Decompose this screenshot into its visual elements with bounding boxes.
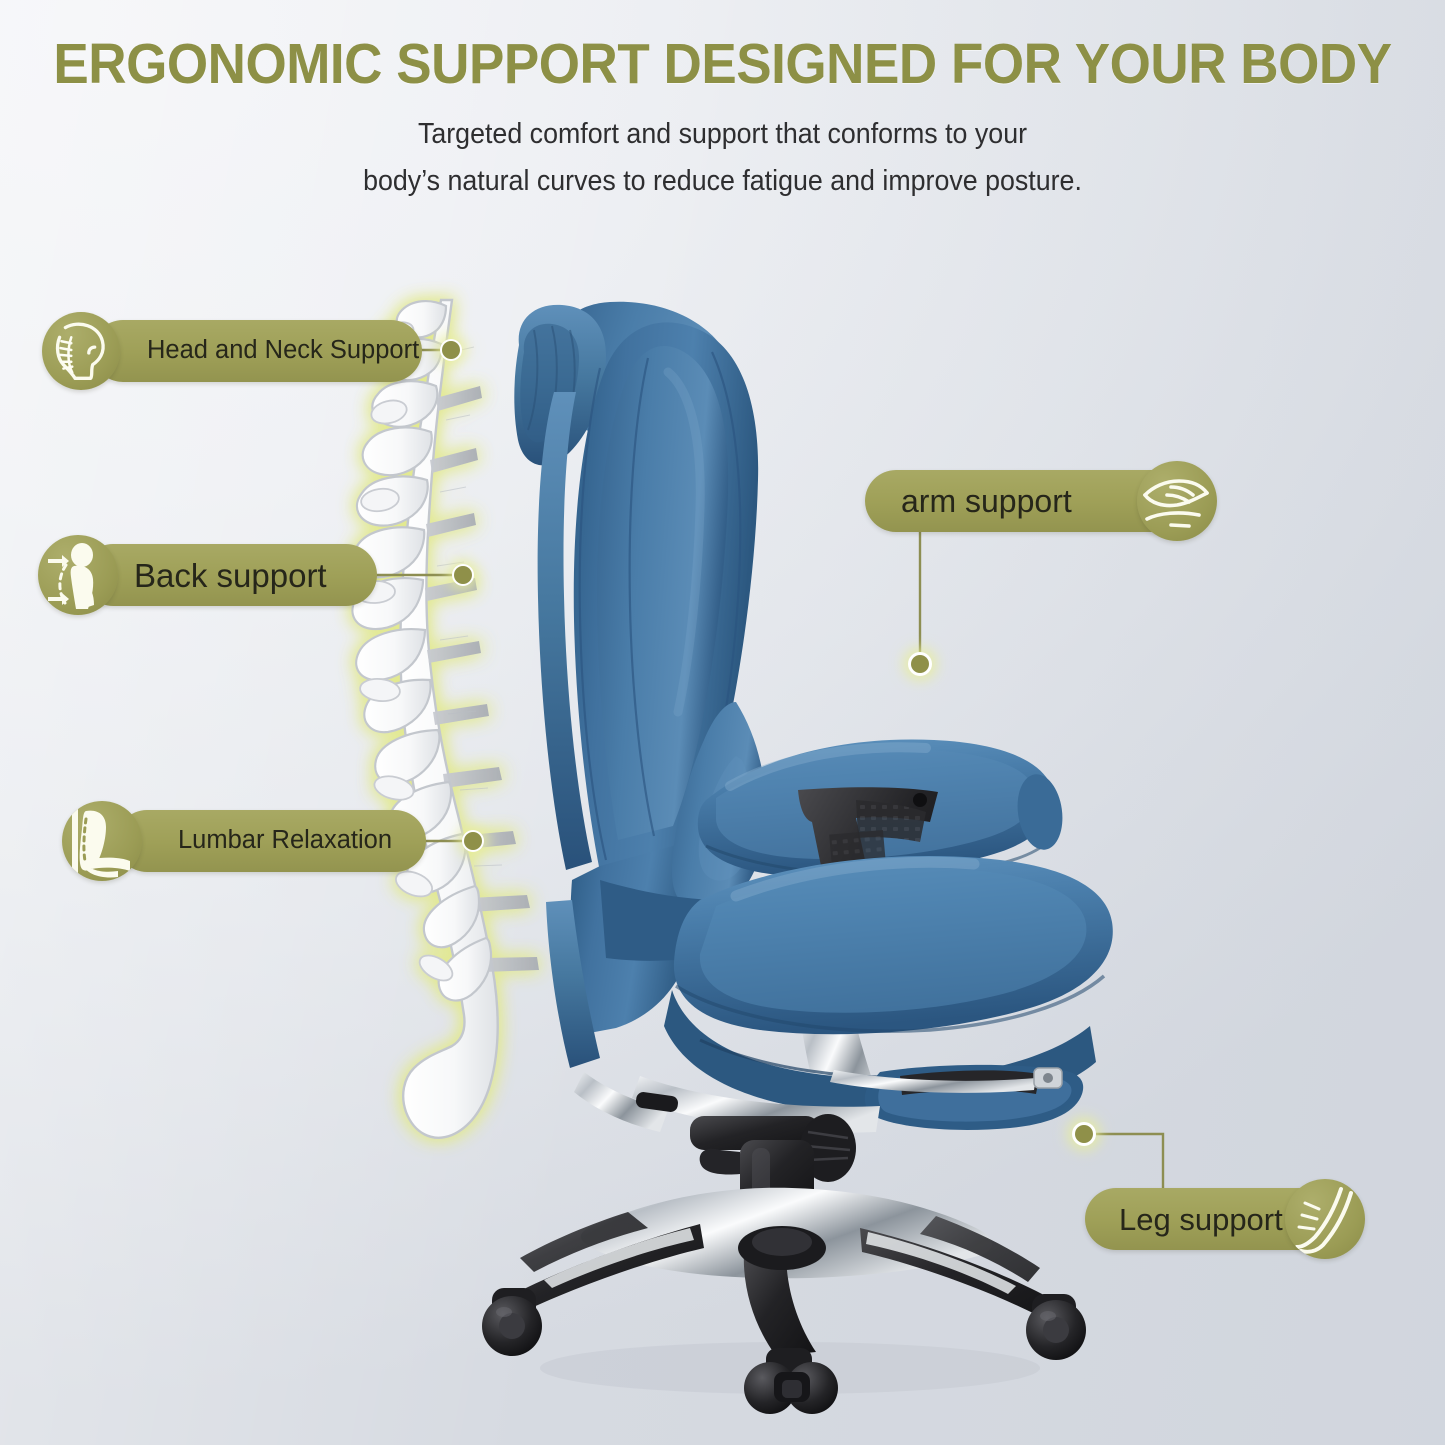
caster-left [482,1288,542,1356]
callout-label: Leg support [1119,1204,1283,1235]
callout-label: arm support [901,485,1072,517]
callout-label: Lumbar Relaxation [178,828,392,854]
header: ERGONOMIC SUPPORT DESIGNED FOR YOUR BODY… [0,34,1445,203]
infographic-canvas: ERGONOMIC SUPPORT DESIGNED FOR YOUR BODY… [0,0,1445,1445]
callout-label: Head and Neck Support [147,338,419,364]
leg-foot-icon [1285,1179,1365,1259]
callout-pill[interactable]: Back support [82,544,377,606]
back-posture-icon [38,535,118,615]
subtitle-line-1: Targeted comfort and support that confor… [43,112,1401,156]
subtitle-line-2: body’s natural curves to reduce fatigue … [43,159,1401,203]
lumbar-seat-icon [62,801,142,881]
caster-right [1026,1294,1086,1360]
head-neck-profile-icon [42,312,120,390]
callout-pill[interactable]: Head and Neck Support [92,320,422,382]
callout-pill[interactable]: Lumbar Relaxation [116,810,426,872]
page-title: ERGONOMIC SUPPORT DESIGNED FOR YOUR BODY [51,34,1395,94]
chair-base [506,1188,1058,1356]
hand-on-armrest-icon [1137,461,1217,541]
callout-label: Back support [134,559,327,592]
